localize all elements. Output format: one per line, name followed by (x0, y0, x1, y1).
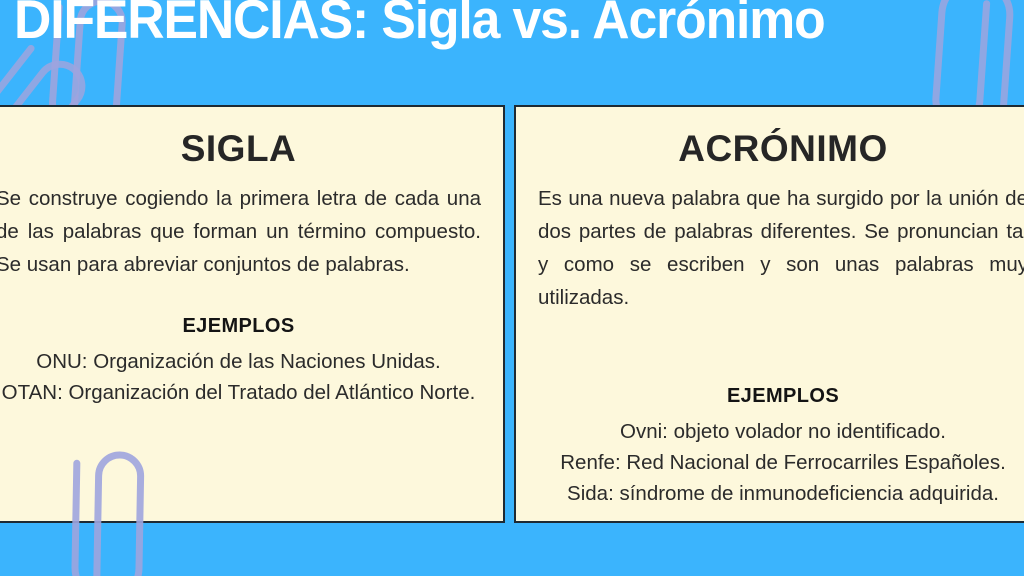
list-item: Sida: síndrome de inmunodeficiencia adqu… (538, 478, 1024, 509)
slide-canvas: DIFERENCIAS: Sigla vs. Acrónimo SIGLA Se… (0, 0, 1024, 576)
card-acronimo-title: ACRÓNIMO (538, 129, 1024, 170)
card-sigla-title: SIGLA (0, 129, 481, 170)
title-bar: DIFERENCIAS: Sigla vs. Acrónimo (0, 0, 1024, 68)
list-item: OTAN: Organización del Tratado del Atlán… (0, 377, 481, 408)
card-sigla-examples-heading: EJEMPLOS (0, 315, 481, 338)
card-sigla: SIGLA Se construye cogiendo la primera l… (0, 105, 505, 523)
card-acronimo-description: Es una nueva palabra que ha surgido por … (538, 182, 1024, 315)
card-acronimo-examples-heading: EJEMPLOS (538, 385, 1024, 408)
page-title: DIFERENCIAS: Sigla vs. Acrónimo (14, 0, 825, 47)
card-acronimo-examples-list: Ovni: objeto volador no identificado. Re… (538, 416, 1024, 509)
card-acronimo: ACRÓNIMO Es una nueva palabra que ha sur… (514, 105, 1024, 523)
list-item: Renfe: Red Nacional de Ferrocarriles Esp… (538, 447, 1024, 478)
list-item: Ovni: objeto volador no identificado. (538, 416, 1024, 447)
card-sigla-content: SIGLA Se construye cogiendo la primera l… (0, 107, 503, 521)
card-sigla-description: Se construye cogiendo la primera letra d… (0, 182, 481, 282)
card-sigla-examples-list: ONU: Organización de las Naciones Unidas… (0, 346, 481, 408)
list-item: ONU: Organización de las Naciones Unidas… (0, 346, 481, 377)
card-acronimo-content: ACRÓNIMO Es una nueva palabra que ha sur… (516, 107, 1024, 521)
